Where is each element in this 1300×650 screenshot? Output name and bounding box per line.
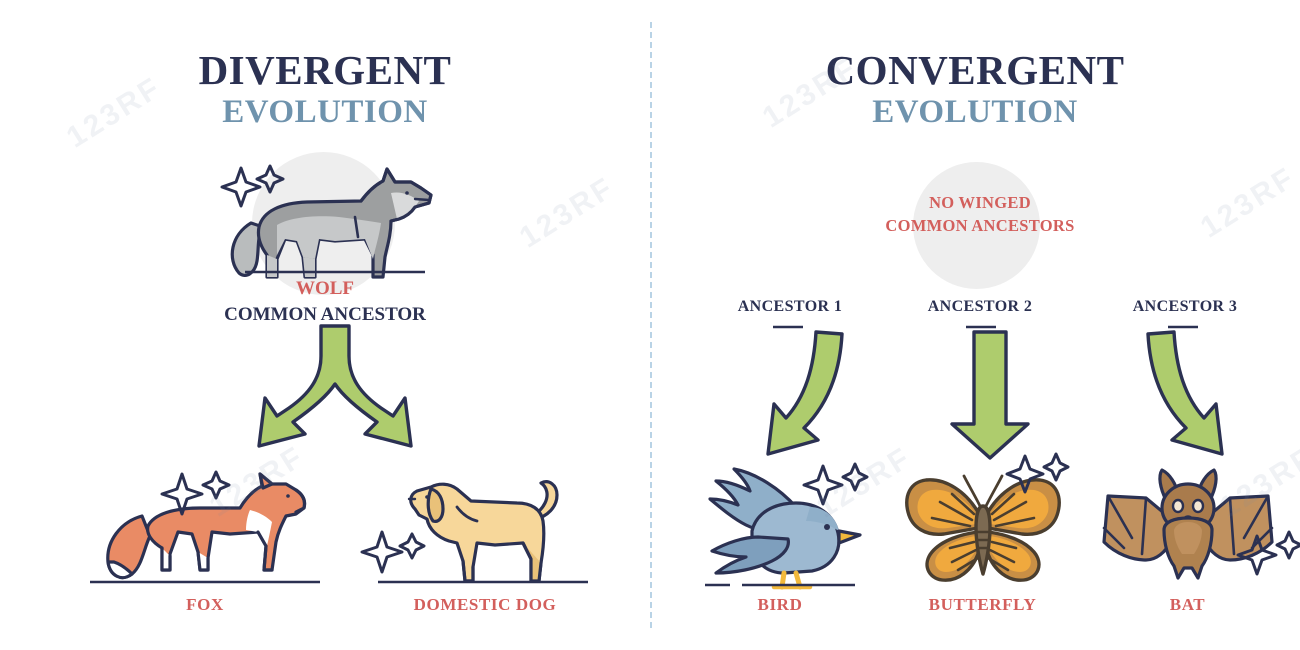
butterfly-label: BUTTERFLY	[885, 595, 1080, 615]
sparkle-stars-butterfly	[1008, 450, 1070, 498]
curved-down-left-arrow	[752, 328, 862, 463]
sparkle-stars-wolf	[222, 160, 284, 216]
divergent-title-sub: EVOLUTION	[0, 92, 650, 133]
sparkle-stars-dog	[366, 528, 424, 578]
wolf-ground-line	[245, 270, 425, 274]
convergent-title-block: CONVERGENT EVOLUTION	[650, 48, 1300, 134]
sparkle-stars-fox	[164, 468, 230, 520]
sparkle-stars-bird	[805, 460, 867, 510]
forked-split-arrow	[215, 322, 455, 462]
straight-down-arrow	[948, 328, 1038, 463]
wolf-name: WOLF	[180, 278, 470, 300]
divergent-title-main: DIVERGENT	[0, 48, 650, 92]
divergent-title-block: DIVERGENT EVOLUTION	[0, 48, 650, 134]
bird-ground-line	[705, 583, 855, 587]
divergent-evolution-panel: DIVERGENT EVOLUTION	[0, 0, 650, 650]
no-winged-line1: NO WINGED	[865, 191, 1095, 214]
curved-down-right-arrow	[1128, 328, 1238, 463]
convergent-title-main: CONVERGENT	[650, 48, 1300, 92]
convergent-title-sub: EVOLUTION	[650, 92, 1300, 133]
ancestor-2-label: ANCESTOR 2	[890, 298, 1070, 316]
bird-label: BIRD	[690, 595, 870, 615]
fox-ground-line	[90, 580, 320, 584]
bat-label: BAT	[1095, 595, 1280, 615]
dog-label: DOMESTIC DOG	[355, 595, 615, 615]
fox-label: FOX	[90, 595, 320, 615]
ancestor-3-label: ANCESTOR 3	[1090, 298, 1280, 316]
no-winged-ancestors-note: NO WINGED COMMON ANCESTORS	[865, 191, 1095, 238]
no-winged-line2: COMMON ANCESTORS	[865, 214, 1095, 237]
dog-ground-line	[378, 580, 588, 584]
ancestor-1-label: ANCESTOR 1	[705, 298, 875, 316]
wolf-caption: WOLF COMMON ANCESTOR	[180, 278, 470, 326]
sparkle-stars-bat	[1240, 530, 1300, 580]
